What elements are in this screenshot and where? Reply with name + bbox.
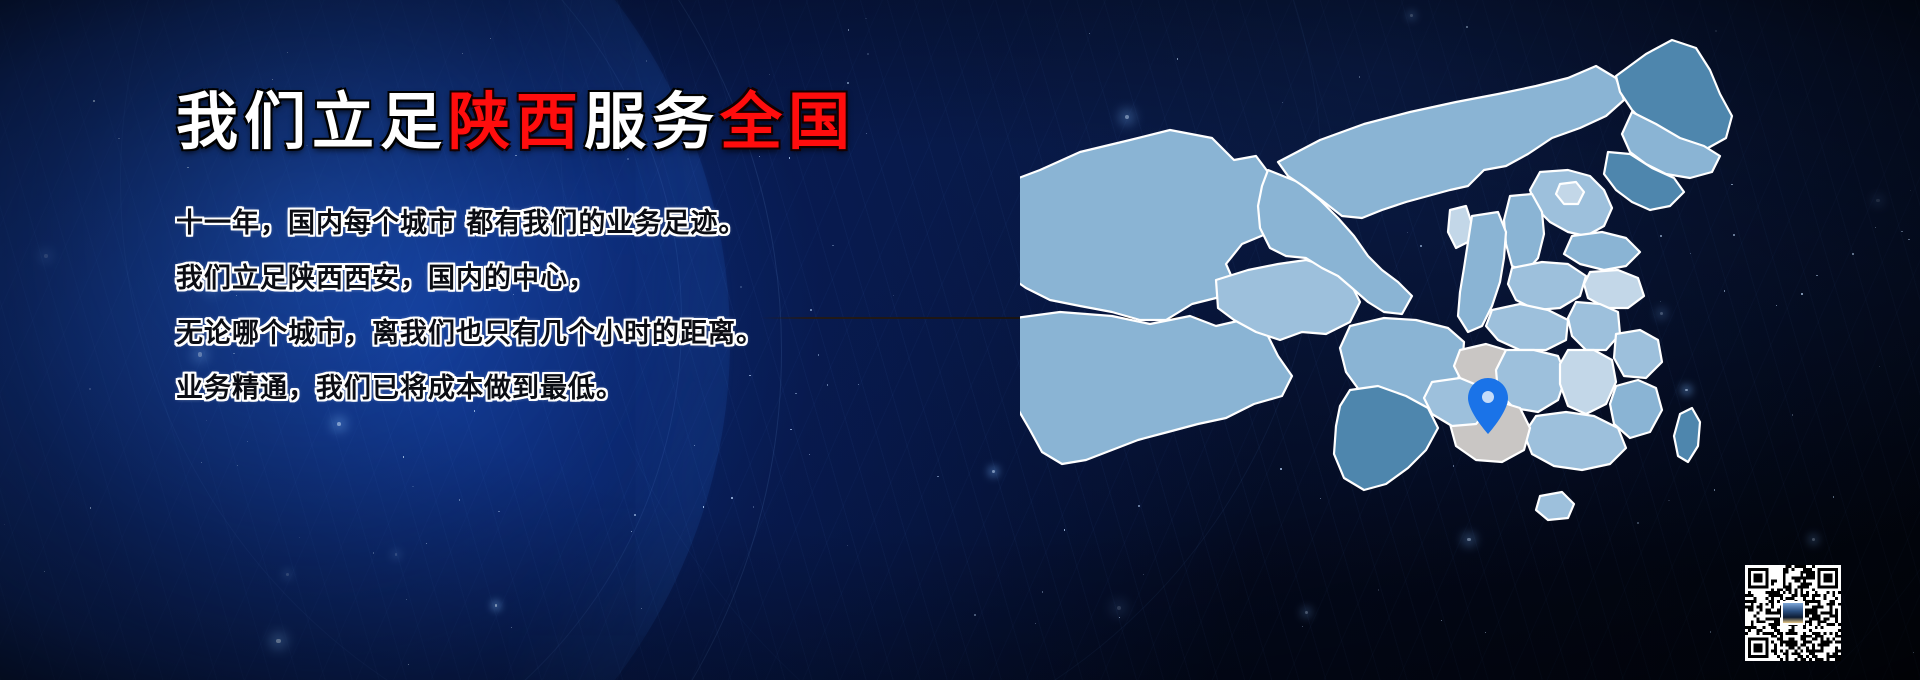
body-line-1: 十一年，国内每个城市 都有我们的业务足迹。	[176, 196, 764, 251]
province-jiangxi	[1560, 350, 1616, 414]
province-anhui	[1568, 302, 1620, 350]
body-line-4: 业务精通，我们已将成本做到最低。	[176, 361, 764, 416]
promo-banner: 我们立足陕西服务全国 十一年，国内每个城市 都有我们的业务足迹。 我们立足陕西西…	[0, 0, 1920, 680]
china-map	[1020, 20, 1820, 660]
province-shanxi	[1504, 194, 1544, 272]
body-line-3: 无论哪个城市，离我们也只有几个小时的距离。	[176, 306, 764, 361]
headline: 我们立足陕西服务全国	[176, 88, 856, 156]
province-guangdong	[1524, 412, 1626, 470]
province-hubei	[1486, 304, 1568, 350]
province-taiwan	[1674, 408, 1700, 462]
body-line-2: 我们立足陕西西安，国内的中心，	[176, 251, 764, 306]
headline-segment-3: 服务	[584, 85, 720, 158]
province-shandong	[1564, 232, 1640, 270]
province-beijing	[1556, 182, 1584, 204]
province-hainan	[1536, 492, 1574, 520]
province-tibet	[1020, 312, 1292, 464]
province-zhejiang	[1614, 330, 1662, 378]
province-henan	[1508, 262, 1586, 310]
headline-segment-4: 全国	[720, 85, 856, 158]
headline-segment-2: 陕西	[448, 85, 584, 158]
qr-center-logo	[1781, 601, 1805, 625]
province-jiangsu	[1584, 270, 1644, 308]
headline-segment-1: 我们立足	[176, 85, 448, 158]
body-copy: 十一年，国内每个城市 都有我们的业务足迹。 我们立足陕西西安，国内的中心， 无论…	[176, 196, 764, 416]
